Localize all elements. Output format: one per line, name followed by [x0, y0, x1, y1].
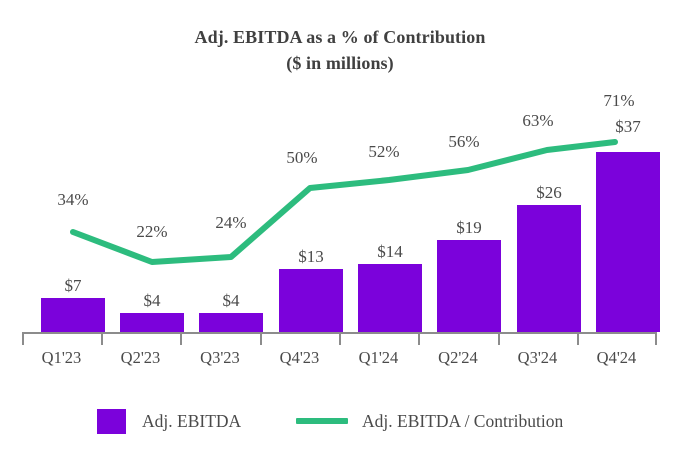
x-axis-label-q1-24: Q1'24 — [339, 348, 418, 368]
legend-item-adj-ebitda-contribution[interactable]: Adj. EBITDA / Contribution — [296, 406, 563, 436]
legend-label: Adj. EBITDA / Contribution — [362, 411, 563, 432]
bar-value-label: $37 — [596, 117, 660, 137]
x-axis-label-q3-23: Q3'23 — [180, 348, 260, 368]
bar-q3-24[interactable] — [517, 205, 581, 332]
axis-tick — [577, 334, 579, 345]
bar-value-label: $4 — [199, 291, 263, 311]
x-axis-label-q2-24: Q2'24 — [418, 348, 498, 368]
legend-square-marker-icon — [97, 409, 126, 434]
pct-value-label: 50% — [270, 148, 334, 168]
pct-value-label: 63% — [506, 111, 570, 131]
x-axis-label-q3-24: Q3'24 — [498, 348, 577, 368]
bar-q1-24[interactable] — [358, 264, 422, 332]
axis-tick — [339, 334, 341, 345]
bar-value-label: $19 — [437, 218, 501, 238]
bar-value-label: $14 — [358, 242, 422, 262]
bar-q3-23[interactable] — [199, 313, 263, 332]
x-axis-label-q2-23: Q2'23 — [101, 348, 180, 368]
chart-container: Adj. EBITDA as a % of Contribution ($ in… — [0, 0, 680, 468]
x-axis-label-q4-23: Q4'23 — [260, 348, 339, 368]
bar-q2-24[interactable] — [437, 240, 501, 332]
pct-value-label: 52% — [352, 142, 416, 162]
bar-value-label: $4 — [120, 291, 184, 311]
pct-value-label: 34% — [41, 190, 105, 210]
bar-value-label: $7 — [41, 276, 105, 296]
pct-value-label: 56% — [432, 132, 496, 152]
bar-value-label: $26 — [517, 183, 581, 203]
axis-tick — [101, 334, 103, 345]
bar-q4-23[interactable] — [279, 269, 343, 332]
bar-q4-24[interactable] — [596, 152, 660, 332]
legend-line-marker-icon — [296, 418, 348, 424]
legend-item-adj-ebitda[interactable]: Adj. EBITDA — [97, 406, 241, 436]
bar-q1-23[interactable] — [41, 298, 105, 332]
axis-tick — [418, 334, 420, 345]
axis-tick — [22, 334, 24, 345]
x-axis-label-q4-24: Q4'24 — [577, 348, 656, 368]
axis-tick — [180, 334, 182, 345]
axis-tick — [498, 334, 500, 345]
bar-value-label: $13 — [279, 247, 343, 267]
plot-area: $7 $4 $4 $13 $14 $19 $26 $37 34% 22% 24%… — [0, 0, 680, 468]
pct-value-label: 22% — [120, 222, 184, 242]
axis-tick — [260, 334, 262, 345]
legend-label: Adj. EBITDA — [142, 411, 241, 432]
chart-legend: Adj. EBITDA Adj. EBITDA / Contribution — [0, 402, 680, 438]
pct-value-label: 24% — [199, 213, 263, 233]
bar-q2-23[interactable] — [120, 313, 184, 332]
x-axis-label-q1-23: Q1'23 — [22, 348, 101, 368]
pct-value-label: 71% — [587, 91, 651, 111]
axis-tick — [655, 334, 657, 345]
